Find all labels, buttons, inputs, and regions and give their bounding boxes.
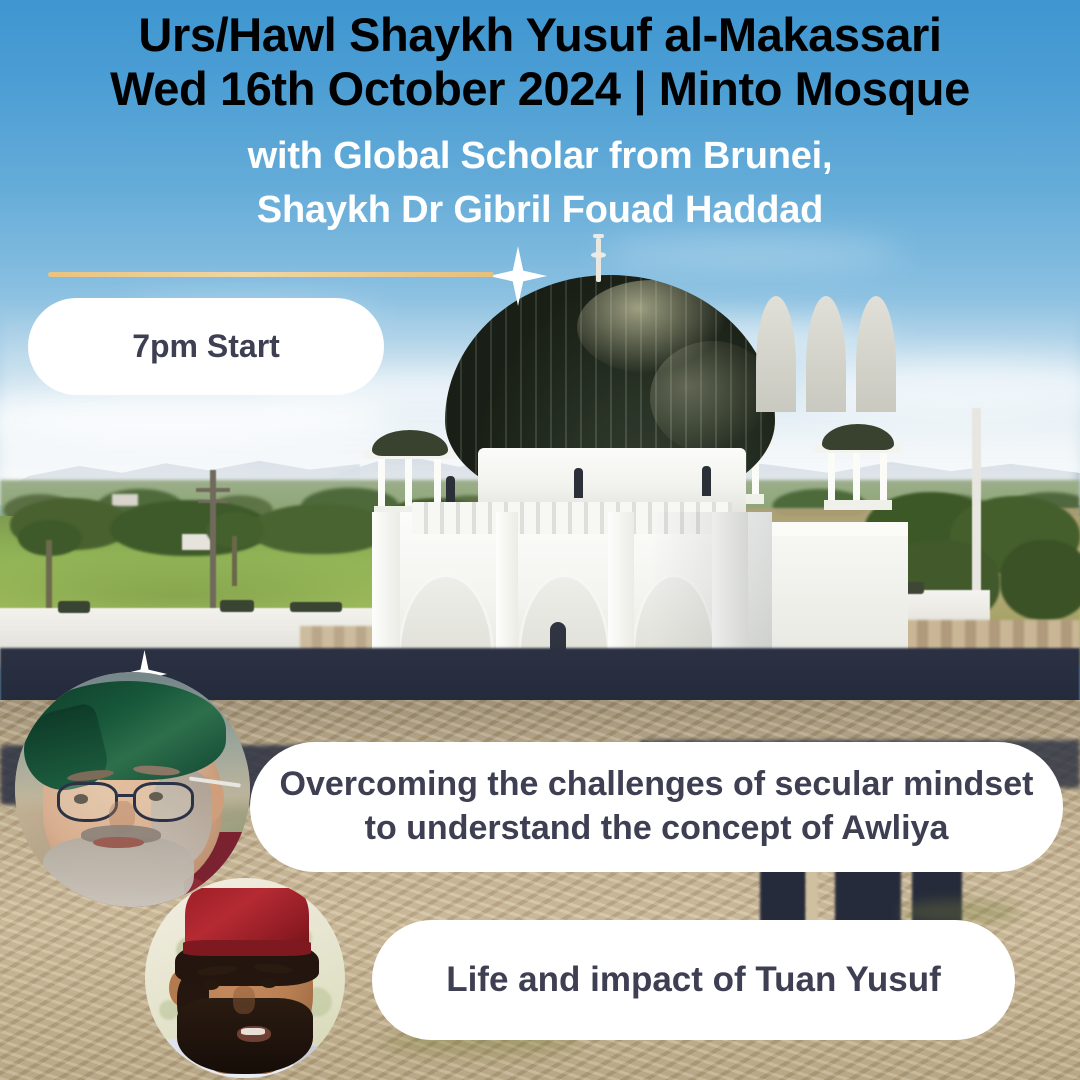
corner-turret bbox=[822, 424, 894, 512]
wing-arch bbox=[806, 296, 846, 412]
bush bbox=[1000, 540, 1080, 620]
title-line-1: Urs/Hawl Shaykh Yusuf al-Makassari bbox=[0, 8, 1080, 62]
wall-cap bbox=[220, 600, 254, 612]
topic-badge-2: Life and impact of Tuan Yusuf bbox=[372, 920, 1015, 1040]
wall-cap bbox=[290, 602, 342, 612]
subtitle-line-1: with Global Scholar from Brunei, bbox=[0, 130, 1080, 184]
wing-arch bbox=[756, 296, 796, 412]
tree-trunk bbox=[232, 536, 237, 586]
shrine-building bbox=[350, 230, 910, 710]
start-time-badge: 7pm Start bbox=[28, 298, 384, 395]
tree-trunk bbox=[46, 540, 52, 614]
wall-cap bbox=[58, 601, 90, 613]
wing-arch bbox=[856, 296, 896, 412]
utility-pole-arm bbox=[198, 500, 228, 503]
utility-pole-arm bbox=[196, 488, 230, 492]
poster-subtitle: with Global Scholar from Brunei, Shaykh … bbox=[0, 130, 1080, 238]
topic-badge-1: Overcoming the challenges of secular min… bbox=[250, 742, 1063, 872]
title-line-2: Wed 16th October 2024 | Minto Mosque bbox=[0, 62, 1080, 116]
gold-divider-rule bbox=[48, 272, 494, 277]
dome-finial bbox=[596, 238, 601, 282]
poster-title: Urs/Hawl Shaykh Yusuf al-Makassari Wed 1… bbox=[0, 8, 1080, 115]
dome-finial-ball bbox=[591, 252, 606, 258]
subtitle-line-2: Shaykh Dr Gibril Fouad Haddad bbox=[0, 184, 1080, 238]
avatar-speaker-2 bbox=[145, 878, 345, 1078]
avatar-speaker-1 bbox=[15, 672, 250, 907]
drum-slit-window bbox=[702, 466, 711, 496]
drum-slit-window bbox=[574, 468, 583, 498]
event-poster: Urs/Hawl Shaykh Yusuf al-Makassari Wed 1… bbox=[0, 0, 1080, 1080]
utility-pole bbox=[210, 470, 216, 630]
wing-cornice bbox=[748, 522, 908, 536]
distant-building bbox=[112, 494, 138, 506]
